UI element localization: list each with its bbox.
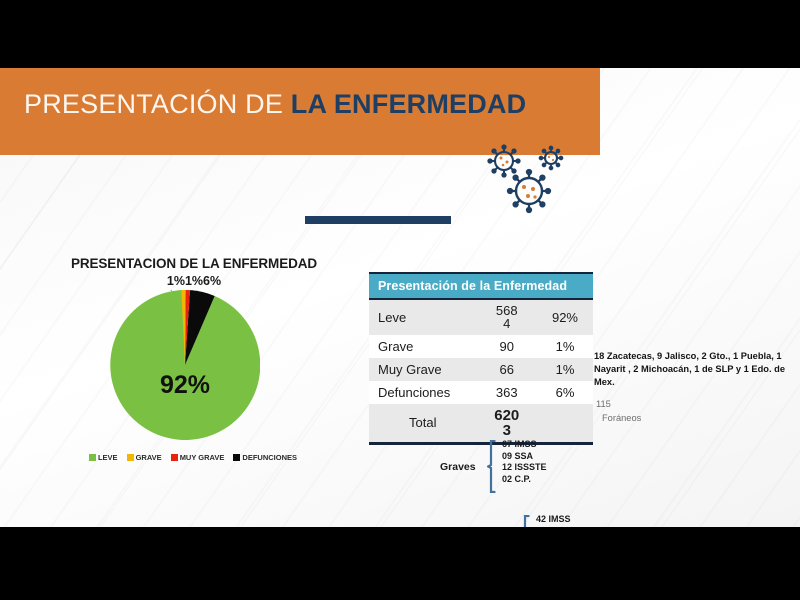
- table-header: Presentación de la Enfermedad: [369, 272, 593, 300]
- bracket-item: 12 ISSSTE: [502, 462, 547, 474]
- bracket-item: 09 SSA: [502, 451, 547, 463]
- row-count-grave: 90: [477, 335, 537, 358]
- slide-title: PRESENTACIÓN DE LA ENFERMEDAD: [24, 89, 526, 120]
- table-row: Muy Grave 66 1%: [369, 358, 593, 381]
- row-label-defunciones: Defunciones: [369, 381, 477, 404]
- pie-callout-defunciones: 6%: [203, 274, 221, 288]
- table-row: Grave 90 1%: [369, 335, 593, 358]
- legend-item-leve: LEVE: [89, 453, 118, 462]
- bracket-items-muy-graves: 42 IMSS 23 SSA 01 ISSSTE: [536, 514, 581, 527]
- bracket-items-graves: 67 IMSS 09 SSA 12 ISSSTE 02 C.P.: [502, 439, 547, 485]
- legend-swatch-muy-grave: [171, 454, 178, 461]
- row-count-total: 620 3: [477, 404, 537, 443]
- legend-swatch-defunciones: [233, 454, 240, 461]
- foraneos-count: 115: [596, 398, 746, 412]
- bracket-item: 42 IMSS: [536, 514, 581, 526]
- row-count-leve-line1: 568: [477, 304, 537, 317]
- row-pct-grave: 1%: [537, 335, 593, 358]
- table-row: Leve 568 4 92%: [369, 300, 593, 335]
- row-pct-leve: 92%: [537, 300, 593, 335]
- pie-callout-labels: 1%1%6%: [68, 274, 320, 288]
- legend-item-grave: GRAVE: [127, 453, 162, 462]
- row-count-total-line2: 3: [477, 423, 537, 438]
- note-states-breakdown: 18 Zacatecas, 9 Jalisco, 2 Gto., 1 Puebl…: [594, 350, 798, 390]
- pie-chart-title: PRESENTACION DE LA ENFERMEDAD: [68, 256, 320, 271]
- legend-swatch-grave: [127, 454, 134, 461]
- legend-label-leve: LEVE: [98, 453, 118, 462]
- bracket-label-muy-graves: Muy graves: [440, 526, 498, 527]
- row-label-grave: Grave: [369, 335, 477, 358]
- slide-header-band: PRESENTACIÓN DE LA ENFERMEDAD: [0, 68, 600, 155]
- bracket-item: 67 IMSS: [502, 439, 547, 451]
- foraneos-label: Foráneos: [596, 412, 746, 426]
- legend-label-grave: GRAVE: [136, 453, 162, 462]
- row-count-leve-line2: 4: [477, 317, 537, 330]
- pie-legend: LEVE GRAVE MUY GRAVE DEFUNCIONES: [62, 453, 324, 462]
- legend-item-defunciones: DEFUNCIONES: [233, 453, 297, 462]
- bracket-item: 23 SSA: [536, 526, 581, 527]
- note-foraneos: 115 Foráneos: [596, 398, 746, 426]
- pie-chart: [110, 290, 260, 440]
- slide-title-bold: LA ENFERMEDAD: [291, 89, 527, 119]
- legend-label-defunciones: DEFUNCIONES: [242, 453, 297, 462]
- bracket-item: 02 C.P.: [502, 474, 547, 486]
- row-count-leve: 568 4: [477, 300, 537, 335]
- pie-callout-grave: 1%: [167, 274, 185, 288]
- video-frame: PRESENTACIÓN DE LA ENFERMEDAD: [0, 0, 800, 600]
- letterbox-bottom: [0, 527, 800, 600]
- coronavirus-icon: [482, 144, 574, 216]
- row-count-muy-grave: 66: [477, 358, 537, 381]
- row-label-leve: Leve: [369, 300, 477, 335]
- row-pct-total: [537, 404, 593, 443]
- enfermedad-table: Presentación de la Enfermedad Leve 568 4…: [369, 272, 593, 445]
- slide-title-light: PRESENTACIÓN DE: [24, 89, 291, 119]
- header-accent-bar: [305, 216, 451, 224]
- row-pct-defunciones: 6%: [537, 381, 593, 404]
- legend-swatch-leve: [89, 454, 96, 461]
- row-count-total-line1: 620: [477, 408, 537, 423]
- row-label-total: Total: [369, 404, 477, 443]
- row-pct-muy-grave: 1%: [537, 358, 593, 381]
- letterbox-top: [0, 0, 800, 68]
- legend-label-muy-grave: MUY GRAVE: [180, 453, 225, 462]
- bracket-graves-icon: [487, 440, 496, 493]
- bracket-label-graves: Graves: [440, 461, 476, 473]
- row-label-muy-grave: Muy Grave: [369, 358, 477, 381]
- slide-canvas: PRESENTACIÓN DE LA ENFERMEDAD: [0, 68, 800, 527]
- pie-callout-muy-grave: 1%: [185, 274, 203, 288]
- bracket-muy-graves-icon: [521, 515, 530, 527]
- row-count-defunciones: 363: [477, 381, 537, 404]
- table-bottom-rule: [369, 442, 593, 445]
- table-row-total: Total 620 3: [369, 404, 593, 443]
- table-row: Defunciones 363 6%: [369, 381, 593, 404]
- legend-item-muy-grave: MUY GRAVE: [171, 453, 225, 462]
